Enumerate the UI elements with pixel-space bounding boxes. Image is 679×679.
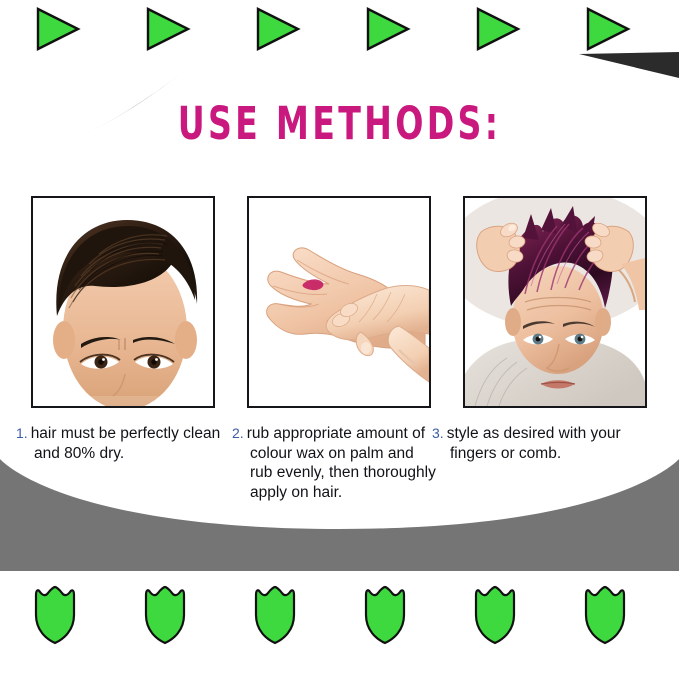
shield-crest-icon <box>472 585 518 645</box>
step-3-number: 3. <box>432 425 444 441</box>
page-title: USE METHODS: <box>61 101 618 146</box>
man-with-clean-dark-hair-photo <box>33 198 213 406</box>
step-2-text: rub appropriate amount of colour wax on … <box>247 425 436 501</box>
play-triangle-icon <box>475 7 521 51</box>
play-triangle-icon <box>145 7 191 51</box>
step-3-image-panel <box>463 196 647 408</box>
product-instruction-card: USE METHODS: <box>0 0 679 679</box>
man-styling-purple-hair-photo <box>465 198 645 406</box>
shield-crest-icon <box>142 585 188 645</box>
step-2-number: 2. <box>232 425 244 441</box>
step-3-caption: 3.style as desired with your fingers or … <box>432 424 647 463</box>
play-triangle-icon <box>365 7 411 51</box>
shield-crest-icon <box>362 585 408 645</box>
shield-crest-icon <box>582 585 628 645</box>
hands-rubbing-colour-wax-photo <box>249 198 429 406</box>
shield-crest-icon <box>32 585 78 645</box>
step-3-text: style as desired with your fingers or co… <box>447 425 621 462</box>
step-1-text: hair must be perfectly clean and 80% dry… <box>31 425 221 462</box>
step-image-row <box>0 196 679 410</box>
step-2-caption: 2.rub appropriate amount of colour wax o… <box>232 424 437 502</box>
step-2-image-panel <box>247 196 431 408</box>
top-triangle-row <box>0 0 679 58</box>
play-triangle-icon <box>255 7 301 51</box>
shield-crest-icon <box>252 585 298 645</box>
step-1-image-panel <box>31 196 215 408</box>
step-1-number: 1. <box>16 425 28 441</box>
bottom-shield-row <box>0 585 679 671</box>
step-1-caption: 1.hair must be perfectly clean and 80% d… <box>16 424 221 463</box>
play-triangle-icon <box>35 7 81 51</box>
play-triangle-icon <box>585 7 631 51</box>
